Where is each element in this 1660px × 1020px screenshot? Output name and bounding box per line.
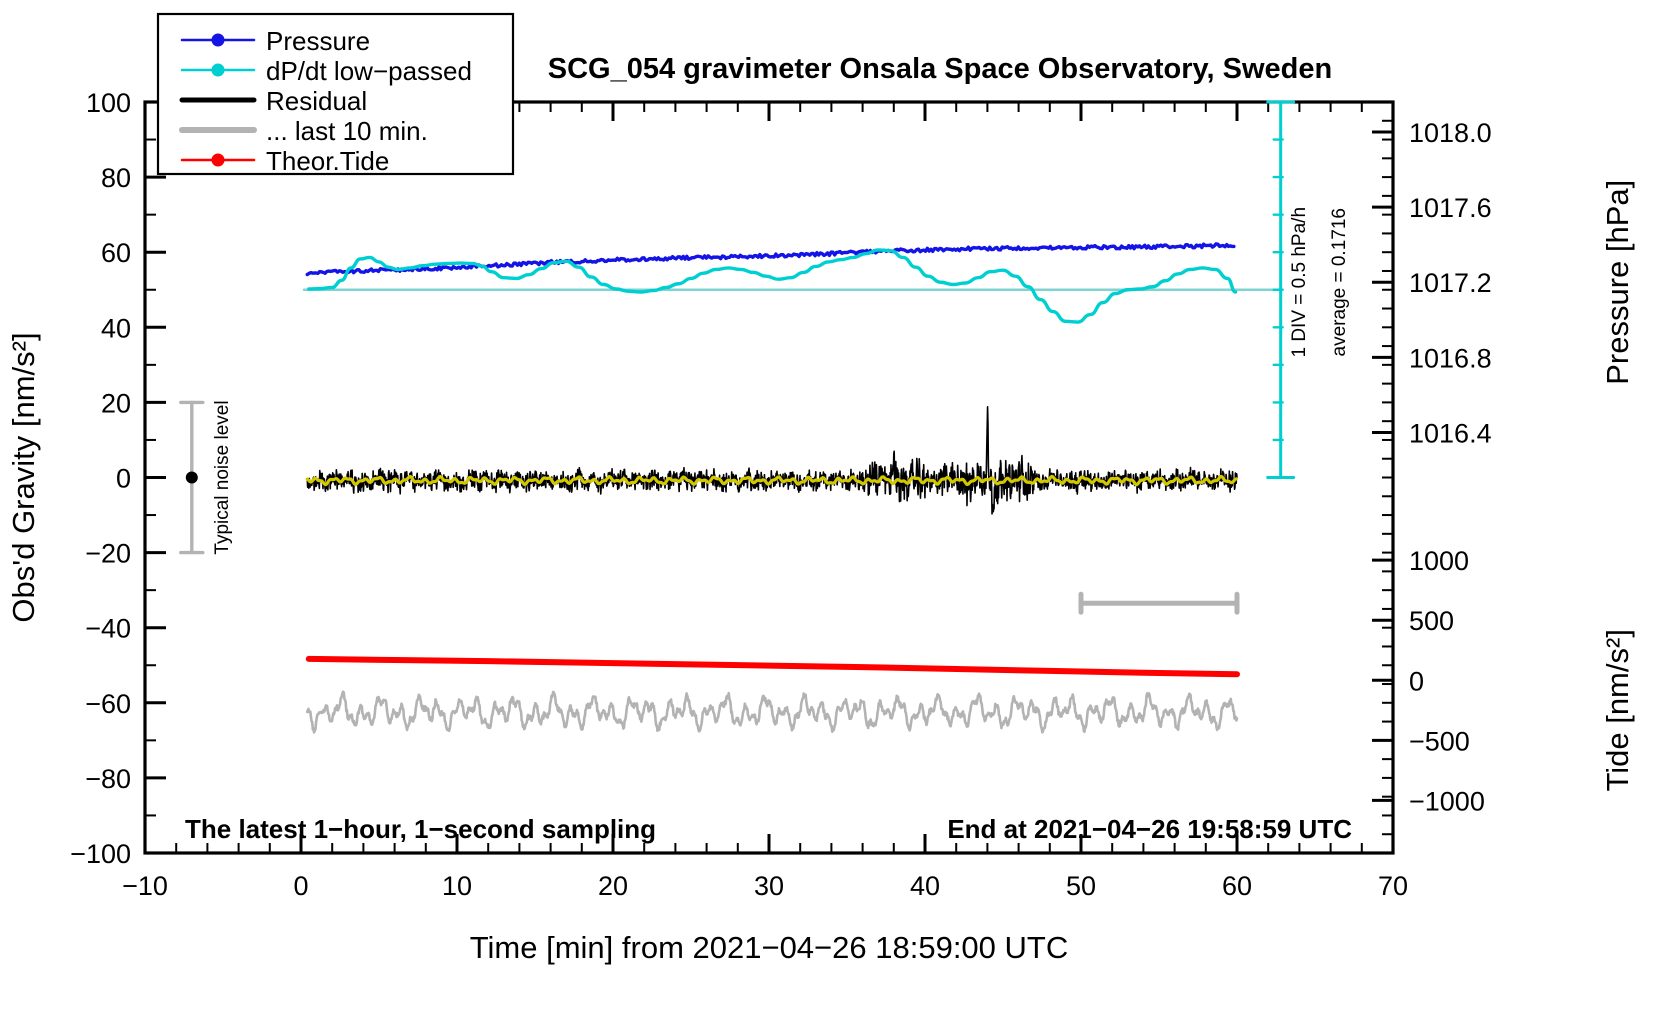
gravimeter-plot: −10010203040506070Time [min] from 2021−0… (0, 0, 1660, 1020)
x-tick-label: 10 (442, 871, 472, 901)
legend-label-4: ... last 10 min. (266, 116, 428, 146)
y-tick-label: −20 (85, 539, 131, 569)
pressure-tick-label: 1018.0 (1409, 118, 1492, 148)
y-tick-label: −80 (85, 764, 131, 794)
x-tick-label: 40 (910, 871, 940, 901)
pressure-trace (307, 244, 1234, 275)
x-axis-title: Time [min] from 2021−04−26 18:59:00 UTC (470, 930, 1069, 965)
last-10-min-trace (307, 692, 1237, 733)
tide-tick-label: −1000 (1409, 786, 1485, 816)
noise-level-label: Typical noise level (212, 400, 233, 554)
x-tick-label: 60 (1222, 871, 1252, 901)
legend-marker-5 (212, 154, 225, 167)
x-tick-label: 30 (754, 871, 784, 901)
theor-tide-trace (309, 659, 1237, 674)
tide-tick-label: −500 (1409, 726, 1470, 756)
dpdt-lowpassed-trace (309, 250, 1236, 322)
legend-label-5: Theor.Tide (266, 146, 389, 176)
y-tick-label: 60 (101, 238, 131, 268)
x-tick-label: 20 (598, 871, 628, 901)
tide-tick-label: 1000 (1409, 546, 1469, 576)
y-tick-label: 80 (101, 163, 131, 193)
y-tick-label: −40 (85, 614, 131, 644)
y-tick-label: 0 (116, 464, 131, 494)
y-tick-label: 20 (101, 388, 131, 418)
x-tick-label: 50 (1066, 871, 1096, 901)
y-tick-label: −100 (70, 839, 131, 869)
tide-tick-label: 0 (1409, 666, 1424, 696)
y-tick-label: −60 (85, 689, 131, 719)
tide-axis-title: Tide [nm/s²] (1600, 629, 1635, 792)
legend-marker-1 (212, 34, 225, 47)
pressure-tick-label: 1017.6 (1409, 193, 1492, 223)
legend-label-2: dP/dt low−passed (266, 56, 472, 86)
pressure-tick-label: 1016.4 (1409, 418, 1492, 448)
cyan-average-label: average = 0.1716 (1329, 208, 1350, 356)
y-axis-title: Obs'd Gravity [nm/s²] (6, 332, 41, 622)
footer-right-label: End at 2021−04−26 19:58:59 UTC (947, 814, 1352, 844)
legend-label-3: Residual (266, 86, 367, 116)
y-tick-label: 100 (86, 88, 131, 118)
pressure-tick-label: 1017.2 (1409, 268, 1492, 298)
plot-title: SCG_054 gravimeter Onsala Space Observat… (548, 53, 1332, 85)
legend-label-1: Pressure (266, 26, 370, 56)
footer-left-label: The latest 1−hour, 1−second sampling (185, 814, 656, 844)
residual-trace (307, 407, 1237, 514)
cyan-div-label: 1 DIV = 0.5 hPa/h (1289, 207, 1310, 358)
x-tick-label: −10 (122, 871, 168, 901)
x-tick-label: 70 (1378, 871, 1408, 901)
tide-tick-label: 500 (1409, 606, 1454, 636)
y-tick-label: 40 (101, 313, 131, 343)
x-tick-label: 0 (293, 871, 308, 901)
figure-canvas: −10010203040506070Time [min] from 2021−0… (0, 0, 1660, 1020)
legend-marker-2 (212, 64, 225, 77)
pressure-tick-label: 1016.8 (1409, 343, 1492, 373)
noise-center-dot (186, 472, 198, 484)
pressure-axis-title: Pressure [hPa] (1600, 180, 1635, 385)
